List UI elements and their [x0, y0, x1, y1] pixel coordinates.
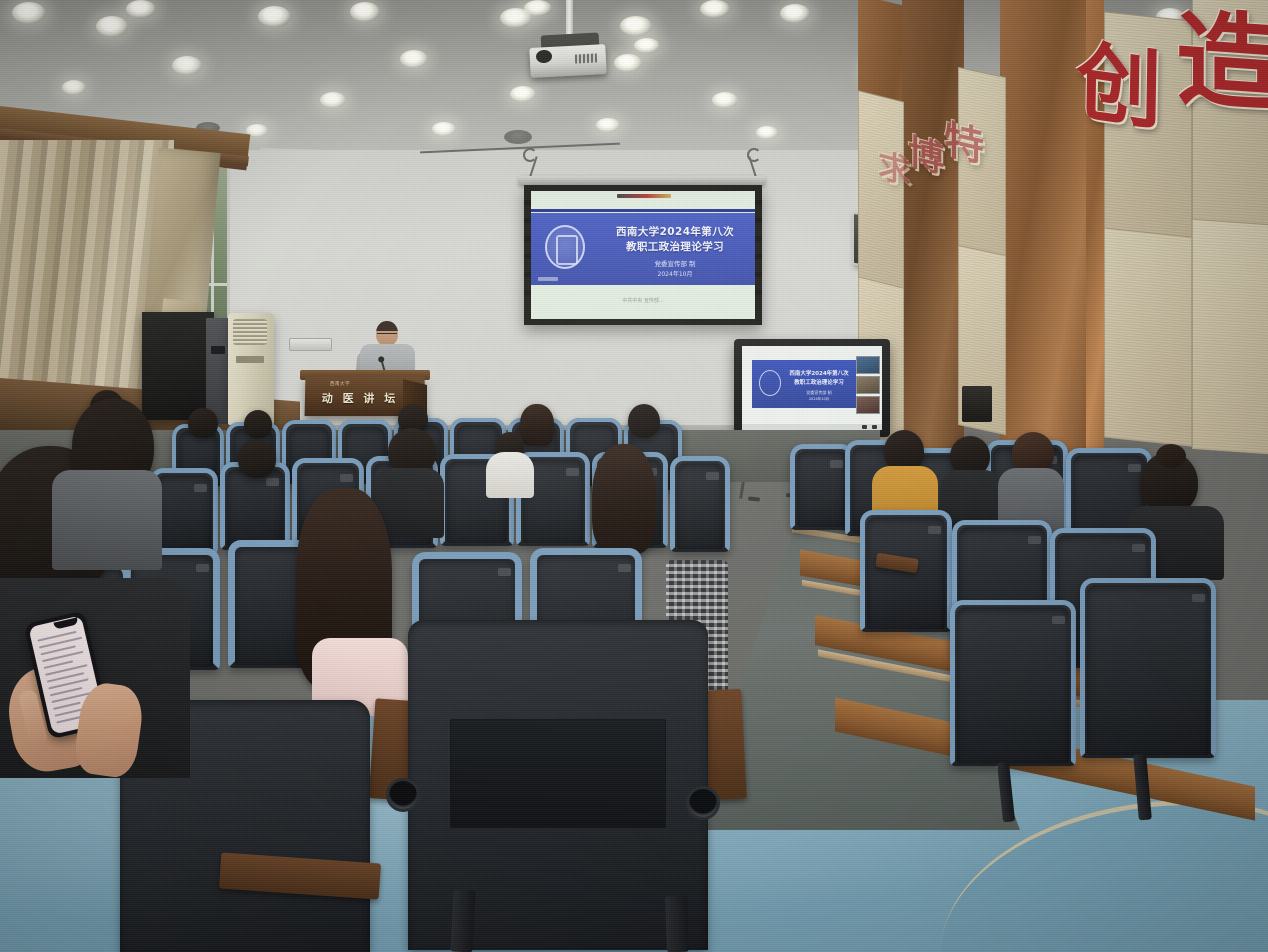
downlight	[96, 16, 128, 37]
downlight	[432, 122, 456, 136]
downlight	[258, 6, 291, 27]
attendee-head	[238, 440, 276, 478]
slide-presenter-line: 党委宣传部 制	[601, 258, 749, 268]
tv-slide-title-line1: 西南大学2024年第八次	[786, 369, 852, 377]
wall-character-chuang: 创	[1075, 38, 1162, 136]
downlight	[510, 86, 536, 102]
downlight	[320, 92, 346, 108]
tv-cart-foot	[748, 496, 760, 501]
downlight	[634, 38, 660, 53]
downlight	[62, 80, 86, 95]
rack-display-panel	[211, 346, 225, 354]
glasses-icon	[377, 333, 397, 337]
attendee-head	[244, 410, 272, 438]
downlight	[620, 16, 652, 36]
wood-pillar	[902, 0, 964, 496]
downlight	[172, 56, 202, 75]
slide-toolbar-strip	[617, 194, 671, 198]
tv-slide-title-line2: 教职工政治理论学习	[786, 378, 852, 386]
cup-holder[interactable]	[686, 786, 720, 820]
projection-screen-surface: 西南大学2024年第八次 教职工政治理论学习 党委宣传部 制 2024年10月 …	[531, 191, 755, 319]
attendee-hair-bun	[1156, 444, 1186, 468]
attendee-head	[520, 404, 554, 446]
slide-corner-mark	[538, 277, 558, 281]
attendee-head	[188, 408, 218, 438]
downlight	[126, 0, 156, 18]
projector-vent	[575, 53, 597, 63]
seat-back-pocket[interactable]	[450, 719, 666, 828]
attendee-torso	[52, 470, 162, 570]
attendee-torso	[486, 452, 534, 498]
ceiling-vent	[504, 130, 532, 144]
video-thumbnail[interactable]	[856, 376, 880, 394]
auditorium-seat[interactable]	[1080, 578, 1216, 758]
downlight	[350, 2, 380, 22]
downlight	[596, 118, 620, 132]
wall-character-bo: 博	[908, 134, 944, 179]
wall-fabric-panel	[858, 90, 904, 301]
tv-control-button[interactable]	[862, 425, 867, 429]
auditorium-seat[interactable]	[950, 600, 1076, 766]
wall-fabric-panel	[1192, 219, 1268, 455]
slide-date-line: 2024年10月	[601, 269, 749, 278]
tv-slide-presenter-line: 党委宣传部 制	[786, 390, 852, 396]
video-thumbnail[interactable]	[856, 356, 880, 374]
ac-air-grille	[233, 319, 267, 345]
wall-character-zao: 造	[1176, 6, 1268, 117]
tv-slide-date-line: 2024年10月	[786, 397, 852, 402]
wall-character-qiu: 求	[878, 148, 911, 190]
podium-org-label: 西南大学	[318, 381, 362, 387]
university-logo-icon	[545, 225, 585, 269]
slide-title-line1: 西南大学2024年第八次	[601, 224, 749, 239]
podium-forum-label: 动 医 讲 坛	[316, 390, 404, 406]
seat-pedestal	[665, 896, 689, 952]
downlight	[780, 4, 810, 23]
slide-title-line2: 教职工政治理论学习	[601, 239, 749, 254]
floor-speaker-cabinet	[142, 312, 214, 420]
ac-brand-badge	[236, 356, 264, 363]
attendee-head	[628, 404, 660, 438]
seat-pedestal	[450, 889, 475, 952]
downlight	[700, 0, 730, 18]
downlight	[614, 54, 642, 72]
lecture-hall-photo: 创 造 特 博 求 西南大学2024年第八次 教职工政治理论学习 党委宣传部 制…	[0, 0, 1268, 952]
wall-fabric-panel	[1104, 227, 1192, 446]
attendee-head	[592, 444, 656, 554]
wall-outlet-plate	[289, 338, 332, 351]
tv-control-button[interactable]	[872, 425, 877, 429]
slide-divider	[531, 209, 755, 212]
cup-holder[interactable]	[386, 778, 420, 812]
downlight	[712, 92, 738, 108]
floor-speaker-right	[962, 386, 992, 422]
projection-screen-housing	[519, 176, 765, 185]
wall-character-te: 特	[944, 119, 984, 168]
downlight	[756, 126, 778, 139]
downlight	[400, 50, 428, 68]
auditorium-seat[interactable]	[670, 456, 730, 552]
tv-university-logo-icon	[759, 370, 781, 396]
video-thumbnail[interactable]	[856, 396, 880, 414]
downlight	[524, 0, 552, 16]
slide-footer-text: 中共中央 宣传部...	[531, 297, 755, 304]
tv-monitor-screen[interactable]: 西南大学2024年第八次 教职工政治理论学习 党委宣传部 制 2024年10月	[742, 346, 882, 424]
downlight	[12, 2, 46, 24]
